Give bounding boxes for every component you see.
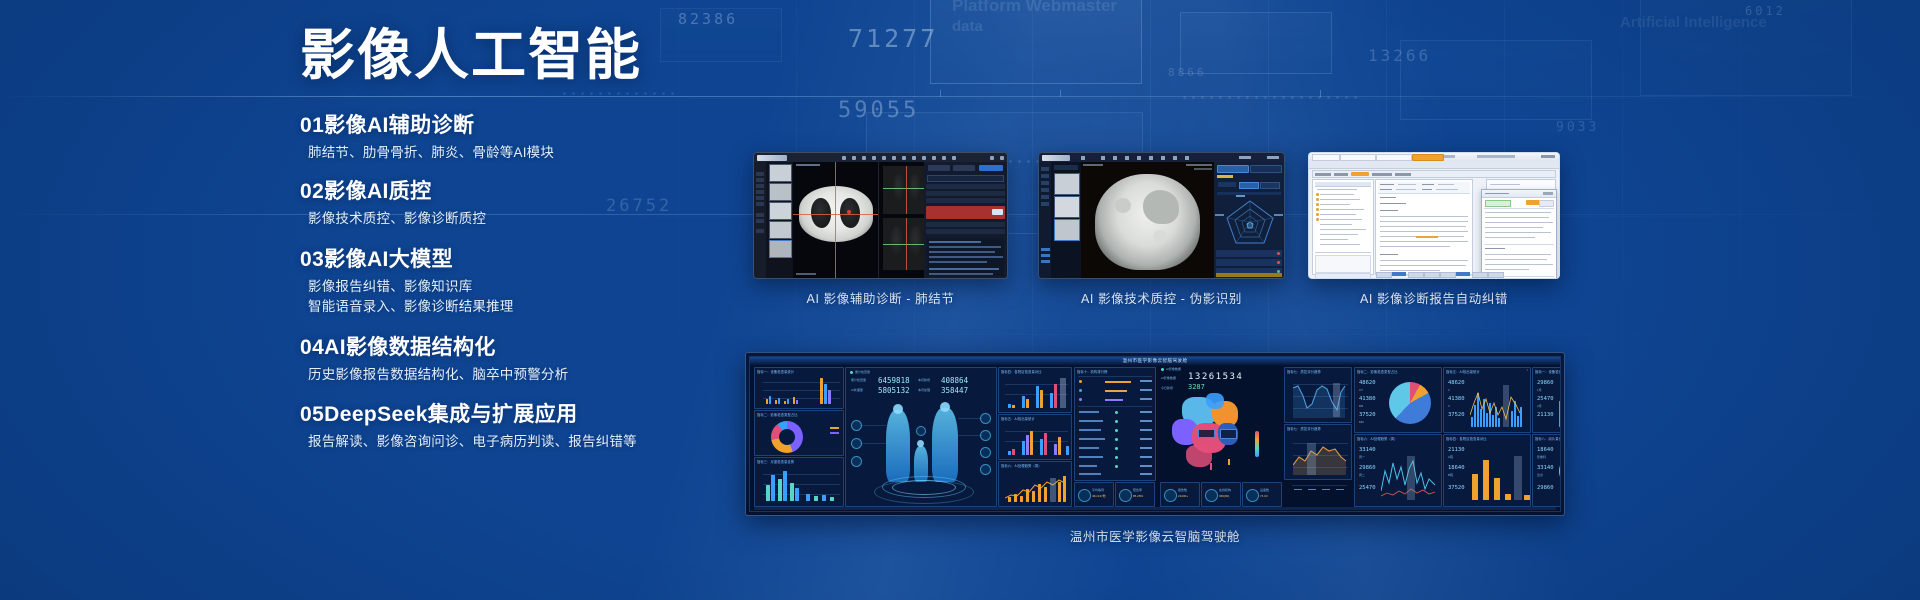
screenshot-image-report[interactable] bbox=[1308, 152, 1560, 279]
metric-icon[interactable] bbox=[980, 464, 991, 475]
tab-worklist[interactable] bbox=[1312, 154, 1340, 161]
hero-panel[interactable]: 累计检查量 累计检查量 6459818 本月新增 408864 AI处理量 58… bbox=[845, 367, 997, 507]
series-thumbnail[interactable] bbox=[1054, 196, 1080, 218]
feature-number: 05 bbox=[300, 403, 324, 426]
kpi-value: 13261534 bbox=[1188, 372, 1243, 382]
finding-row[interactable] bbox=[926, 191, 1005, 196]
kpi-value: 29860 bbox=[1537, 380, 1554, 386]
footer-stat-label: 报告数 bbox=[1178, 488, 1187, 492]
feature-desc-line: 肺结节、肋骨骨折、肺炎、骨龄等AI模块 bbox=[308, 143, 720, 163]
kpi-label: 本月新增 bbox=[918, 378, 930, 382]
map-panel[interactable]: AI影像数据 AI影像数据 13261534 今日新增 3287 bbox=[1158, 367, 1278, 479]
ai-analyze-button[interactable] bbox=[979, 165, 1003, 171]
chart-card-4[interactable]: 指标四：各院区检查量对比 bbox=[998, 367, 1072, 413]
footer-stat-1[interactable]: 平均等待 46m137秒 bbox=[1074, 482, 1114, 507]
status-bar bbox=[1312, 272, 1556, 277]
chart-card-8[interactable]: 指标七：质控评分趋势 bbox=[1284, 424, 1352, 480]
ct-axial-view[interactable] bbox=[793, 162, 878, 278]
kpi-label: 2月 bbox=[1537, 404, 1542, 408]
kpi-label: AI处理量 bbox=[851, 388, 863, 392]
dashboard-footer-strip bbox=[754, 507, 1556, 510]
kpi-value: 48620 bbox=[1448, 380, 1465, 386]
feature-title: AI影像数据结构化 bbox=[324, 336, 496, 359]
feature-list: 影像人工智能 01影像AI辅助诊断 肺结节、肋骨骨折、肺炎、骨龄等AI模块 02… bbox=[300, 28, 720, 452]
series-thumbnail-selected[interactable] bbox=[769, 240, 792, 258]
feature-item-04: 04AI影像数据结构化 历史影像报告数据结构化、脑卒中预警分析 bbox=[300, 335, 720, 385]
qc-radar-chart bbox=[1224, 198, 1276, 246]
feature-heading: 03影像AI大模型 bbox=[300, 247, 720, 273]
ct-axial-view[interactable] bbox=[1081, 162, 1214, 278]
screenshot-image-qc-viewer[interactable] bbox=[1038, 152, 1285, 279]
kpi-value: 33140 bbox=[1537, 465, 1554, 471]
kpi-value: 37520 bbox=[1359, 412, 1376, 418]
chart-title: 指标七：质控评分趋势 bbox=[1287, 426, 1321, 431]
feature-title: DeepSeek集成与扩展应用 bbox=[324, 403, 577, 426]
chart-card-8-axis bbox=[1284, 481, 1350, 505]
feature-title: 影像AI质控 bbox=[324, 180, 431, 203]
footer-stat-label: 阳性率 bbox=[1133, 488, 1142, 492]
chart-card-5[interactable]: 指标五：AI检出量统计 bbox=[998, 414, 1072, 460]
series-thumbnail[interactable] bbox=[769, 202, 792, 220]
correction-suggestion-popup[interactable] bbox=[1481, 189, 1557, 279]
series-thumbnail[interactable] bbox=[769, 221, 792, 239]
finding-row[interactable] bbox=[926, 229, 1005, 234]
kpi-label: 本月处理 bbox=[918, 388, 930, 392]
kpi-value: 41380 bbox=[1359, 396, 1376, 402]
save-button[interactable] bbox=[953, 165, 975, 171]
chart-card-13[interactable]: 指标一：设备检查量统计 29860 1月 25470 2月 21130 bbox=[1532, 367, 1561, 433]
feature-number: 01 bbox=[300, 114, 324, 137]
series-thumbnail[interactable] bbox=[769, 183, 792, 201]
chart-card-14[interactable]: 指标八：阅片量分布 18640 影像科 33140 急诊 29860 bbox=[1532, 434, 1561, 507]
kpi-label: DR bbox=[1359, 404, 1363, 408]
stat-icon bbox=[1119, 489, 1132, 502]
ranking-card[interactable]: 指标十：机构排行榜 bbox=[1074, 367, 1156, 481]
qc-score-panel[interactable] bbox=[1214, 162, 1284, 278]
status-dot-icon bbox=[1161, 368, 1164, 371]
kpi-value: 48620 bbox=[1359, 380, 1376, 386]
series-thumbnail-selected[interactable] bbox=[1054, 219, 1080, 241]
feature-item-01: 01影像AI辅助诊断 肺结节、肋骨骨折、肺炎、骨龄等AI模块 bbox=[300, 113, 720, 163]
dashboard-card[interactable]: 温州市医学影像云智脑驾驶舱 指标一：设备检查量统计 bbox=[745, 352, 1565, 545]
status-dot-icon bbox=[850, 371, 853, 374]
chart-title: 指标二：影像检查类型占比 bbox=[1357, 369, 1398, 374]
feature-desc: 肺结节、肋骨骨折、肺炎、骨龄等AI模块 bbox=[300, 143, 720, 163]
dashboard-caption: 温州市医学影像云智脑驾驶舱 bbox=[745, 526, 1565, 545]
kpi-value: 37520 bbox=[1448, 412, 1465, 418]
screenshot-card-1[interactable]: AI 影像辅助诊断 - 肺结节 bbox=[753, 152, 1008, 307]
qc-issue-row[interactable] bbox=[1216, 250, 1282, 257]
finding-row[interactable] bbox=[926, 222, 1005, 227]
kpi-value: 3287 bbox=[1188, 383, 1205, 391]
chart-card-10[interactable]: 指标六：AI处理趋势（周） 33140 周一 29860 周二 25470 bbox=[1354, 434, 1442, 507]
kpi-value: 21130 bbox=[1537, 412, 1554, 418]
chart-card-6[interactable]: 指标六：AI处理趋势（周） bbox=[998, 461, 1072, 507]
human-figure-adult bbox=[886, 410, 910, 482]
footer-stat-3[interactable]: 报告数 21200+ bbox=[1160, 482, 1200, 507]
chart-card-1[interactable]: 指标一：设备检查量统计 bbox=[754, 367, 844, 409]
kpi-value: 358447 bbox=[941, 386, 968, 395]
feature-desc: 报告解读、影像咨询问诊、电子病历判读、报告纠错等 bbox=[300, 432, 720, 452]
chart-title: 指标四：各院区检查量对比 bbox=[1446, 436, 1487, 441]
apply-button[interactable] bbox=[1526, 200, 1540, 205]
footer-stat-value: 366(90) bbox=[1219, 494, 1229, 498]
map-legend-scale bbox=[1255, 431, 1259, 457]
chart-legend: 1 bbox=[1527, 369, 1528, 372]
directory-tree[interactable] bbox=[1312, 179, 1374, 275]
map-region[interactable] bbox=[1206, 393, 1224, 409]
kpi-label: 周一 bbox=[1359, 455, 1365, 459]
footer-stat-5[interactable]: 设备数 74.03 bbox=[1242, 482, 1282, 507]
feature-desc: 影像技术质控、影像诊断质控 bbox=[300, 209, 720, 229]
series-thumbnail[interactable] bbox=[1054, 173, 1080, 195]
feature-number: 02 bbox=[300, 180, 324, 203]
artifact-region bbox=[1115, 198, 1131, 213]
kpi-label: A院 bbox=[1448, 455, 1453, 459]
chart-card-7[interactable]: 指标七：质控评分趋势 bbox=[1284, 367, 1352, 423]
feature-item-05: 05DeepSeek集成与扩展应用 报告解读、影像咨询问诊、电子病历判读、报告纠… bbox=[300, 402, 720, 452]
kpi-value: 29860 bbox=[1537, 485, 1554, 491]
tabbar[interactable] bbox=[1309, 161, 1559, 169]
footer-stat-label: 设备数 bbox=[1260, 488, 1269, 492]
report-document[interactable] bbox=[1375, 179, 1473, 275]
feature-desc: 影像报告纠错、影像知识库 智能语音录入、影像诊断结果推理 bbox=[300, 277, 720, 316]
footer-stat-value: 46m137秒 bbox=[1092, 494, 1106, 498]
kpi-label: 今日新增 bbox=[1161, 386, 1173, 390]
dashboard-screen-title: 温州市医学影像云智脑驾驶舱 bbox=[1123, 358, 1188, 364]
report-text-area[interactable] bbox=[927, 238, 1004, 276]
kpi-value: 37520 bbox=[1448, 485, 1465, 491]
map-region[interactable] bbox=[1186, 445, 1212, 467]
qc-tab-diagnostic[interactable] bbox=[1250, 165, 1282, 173]
screenshot-card-3[interactable]: AI 影像诊断报告自动纠错 bbox=[1308, 152, 1560, 307]
toolbar[interactable] bbox=[1312, 170, 1556, 178]
stat-icon bbox=[1164, 489, 1177, 502]
kpi-value: 6459818 bbox=[878, 376, 910, 385]
feature-desc-line: 智能语音录入、影像诊断结果推理 bbox=[308, 297, 720, 317]
ct-thorax-image bbox=[1095, 174, 1200, 270]
kpi-label: AI影像数据 bbox=[1161, 376, 1176, 380]
feature-number: 04 bbox=[300, 336, 324, 359]
app-logo-icon bbox=[757, 155, 787, 161]
screenshot-caption-1: AI 影像辅助诊断 - 肺结节 bbox=[753, 288, 1008, 307]
kpi-label: 2 bbox=[1448, 388, 1450, 392]
chart-title: 指标二：影像检查类型占比 bbox=[757, 412, 798, 417]
chart-card-11[interactable]: 指标五：AI检出量统计 1 48620 2 41380 3 37520 bbox=[1443, 367, 1531, 433]
chart-title: 指标六：AI处理趋势（周） bbox=[1357, 436, 1398, 441]
map-tooltip bbox=[1198, 429, 1215, 438]
footer-stat-value: 85.28% bbox=[1133, 494, 1143, 498]
kpi-label: MR bbox=[1359, 420, 1364, 424]
feature-desc: 历史影像报告数据结构化、脑卒中预警分析 bbox=[300, 365, 720, 385]
kpi-value: 18640 bbox=[1448, 465, 1465, 471]
page-title: 影像人工智能 bbox=[300, 28, 720, 83]
footer-stat-value: 74.03 bbox=[1260, 494, 1268, 498]
feature-heading: 01影像AI辅助诊断 bbox=[300, 113, 720, 139]
footer-stat-4[interactable]: 在线机构 366(90) bbox=[1201, 482, 1241, 507]
kpi-label: 急诊 bbox=[1537, 473, 1543, 477]
screenshot-caption-3: AI 影像诊断报告自动纠错 bbox=[1308, 288, 1560, 307]
chart-card-2[interactable]: 指标二：影像检查类型占比 bbox=[754, 410, 844, 456]
feature-item-03: 03影像AI大模型 影像报告纠错、影像知识库 智能语音录入、影像诊断结果推理 bbox=[300, 247, 720, 316]
screenshot-caption-2: AI 影像技术质控 - 伪影识别 bbox=[1038, 288, 1285, 307]
feature-desc-line: 报告解读、影像咨询问诊、电子病历判读、报告纠错等 bbox=[308, 432, 720, 452]
feature-heading: 02影像AI质控 bbox=[300, 179, 720, 205]
kpi-group-label: AI影像数据 bbox=[1166, 367, 1181, 371]
chart-card-9[interactable]: 指标二：影像检查类型占比 48620 CT 41380 DR 37520 MR bbox=[1354, 367, 1442, 433]
kpi-value: 21130 bbox=[1448, 447, 1465, 453]
feature-desc-line: 影像技术质控、影像诊断质控 bbox=[308, 209, 720, 229]
feature-item-02: 02影像AI质控 影像技术质控、影像诊断质控 bbox=[300, 179, 720, 229]
feature-number: 03 bbox=[300, 248, 324, 271]
feature-desc-line: 影像报告纠错、影像知识库 bbox=[308, 277, 720, 297]
kpi-label: 1月 bbox=[1537, 388, 1542, 392]
qc-issue-row[interactable] bbox=[1216, 259, 1282, 266]
stat-icon bbox=[1205, 489, 1218, 502]
metric-icon[interactable] bbox=[980, 447, 991, 458]
metric-icon[interactable] bbox=[851, 456, 862, 467]
chart-title: 指标一：设备检查量统计 bbox=[757, 369, 794, 374]
kpi-value: 18640 bbox=[1537, 447, 1554, 453]
stat-icon bbox=[1246, 489, 1259, 502]
map-tooltip bbox=[1220, 429, 1237, 439]
search-input[interactable] bbox=[927, 175, 1004, 182]
ai-findings-panel[interactable] bbox=[924, 162, 1007, 278]
kpi-value: 41380 bbox=[1448, 396, 1465, 402]
kpi-value: 5805132 bbox=[878, 386, 910, 395]
footer-stat-label: 平均等待 bbox=[1092, 488, 1104, 492]
screenshot-card-2[interactable]: AI 影像技术质控 - 伪影识别 bbox=[1038, 152, 1285, 307]
chart-title: 指标三：月度检查量走势 bbox=[757, 459, 794, 464]
thumbnail-strip[interactable] bbox=[1051, 162, 1082, 278]
finding-row[interactable] bbox=[926, 198, 1005, 203]
finding-row[interactable] bbox=[926, 184, 1005, 189]
footer-stat-2[interactable]: 阳性率 85.28% bbox=[1115, 482, 1155, 507]
stat-icon bbox=[1078, 489, 1091, 502]
chart-title: 指标八：阅片量分布 bbox=[1535, 436, 1561, 441]
reset-button[interactable] bbox=[928, 165, 950, 171]
qc-tab-technical[interactable] bbox=[1217, 165, 1249, 173]
qc-warning-bar bbox=[1216, 273, 1282, 277]
metric-icon[interactable] bbox=[916, 426, 926, 436]
ignore-button[interactable] bbox=[1539, 200, 1554, 207]
status-badge bbox=[1485, 200, 1511, 207]
chart-title: 指标六：AI处理趋势（周） bbox=[1001, 463, 1042, 468]
alert-thumbnail[interactable] bbox=[992, 209, 1003, 215]
dashboard-screen[interactable]: 温州市医学影像云智脑驾驶舱 指标一：设备检查量统计 bbox=[745, 352, 1565, 516]
kpi-value: 25470 bbox=[1359, 485, 1376, 491]
pie-chart bbox=[1389, 382, 1431, 424]
kpi-label: 影像科 bbox=[1537, 455, 1546, 459]
app-logo-icon bbox=[1042, 155, 1070, 161]
crosshair-vertical bbox=[835, 162, 836, 278]
tab-history[interactable] bbox=[1376, 154, 1412, 161]
footer-stat-label: 在线机构 bbox=[1219, 488, 1231, 492]
kpi-group-label: 累计检查量 bbox=[855, 370, 870, 374]
series-thumbnail[interactable] bbox=[769, 164, 792, 182]
kpi-value: 25470 bbox=[1537, 396, 1554, 402]
chart-title: 指标十：机构排行榜 bbox=[1077, 369, 1108, 374]
kpi-value: 29860 bbox=[1359, 465, 1376, 471]
tab-report[interactable] bbox=[1340, 154, 1376, 161]
donut-chart bbox=[1559, 453, 1561, 489]
kpi-label: 周二 bbox=[1359, 473, 1365, 477]
kpi-label: 3 bbox=[1448, 404, 1450, 408]
kpi-label: 累计检查量 bbox=[851, 378, 866, 382]
screenshot-image-ct-viewer[interactable] bbox=[753, 152, 1008, 279]
chart-title: 指标四：各院区检查量对比 bbox=[1001, 369, 1042, 374]
feature-heading: 04AI影像数据结构化 bbox=[300, 335, 720, 361]
feature-title: 影像AI大模型 bbox=[324, 248, 453, 271]
tab-active[interactable] bbox=[1412, 154, 1444, 161]
kpi-value: 33140 bbox=[1359, 447, 1376, 453]
banner-stage: 82386 71277 59055 26752 13266 6012 8866 … bbox=[0, 0, 1920, 600]
chart-card-3[interactable]: 指标三：月度检查量走势 bbox=[754, 457, 844, 507]
feature-title: 影像AI辅助诊断 bbox=[324, 114, 474, 137]
chart-title: 指标一：设备检查量统计 bbox=[1535, 369, 1561, 374]
chart-title: 指标五：AI检出量统计 bbox=[1001, 416, 1035, 421]
feature-desc-line: 历史影像报告数据结构化、脑卒中预警分析 bbox=[308, 365, 720, 385]
kpi-value: 408864 bbox=[941, 376, 968, 385]
feature-heading: 05DeepSeek集成与扩展应用 bbox=[300, 402, 720, 428]
chart-title: 指标七：质控评分趋势 bbox=[1287, 369, 1321, 374]
human-figure-adult bbox=[932, 408, 958, 482]
kpi-label: B院 bbox=[1448, 473, 1453, 477]
chart-title: 指标五：AI检出量统计 bbox=[1446, 369, 1480, 374]
kpi-label: CT bbox=[1359, 388, 1363, 392]
chart-card-12[interactable]: 指标四：各院区检查量对比 21130 A院 18640 B院 37520 bbox=[1443, 434, 1531, 507]
footer-stat-value: 21200+ bbox=[1178, 494, 1188, 498]
